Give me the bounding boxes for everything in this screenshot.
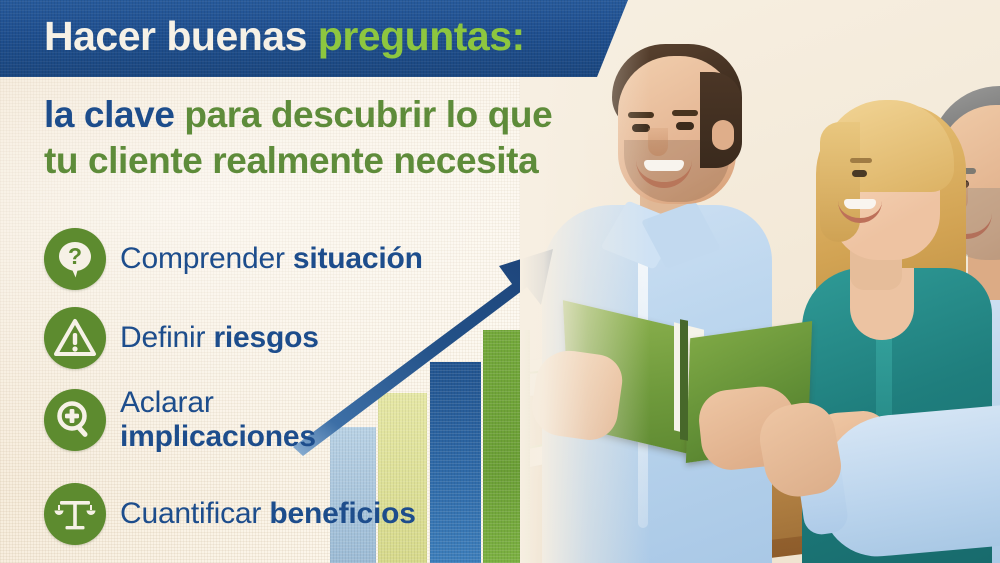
subheadline-emphasis: la clave — [44, 94, 184, 135]
list-item-label: Comprender situación — [120, 242, 423, 276]
warning-triangle-icon — [44, 307, 106, 369]
svg-text:?: ? — [68, 243, 82, 269]
green-book-spine — [680, 319, 688, 440]
magnifier-plus-glyph — [53, 398, 97, 442]
banner-headline: Hacer buenas preguntas: — [44, 11, 525, 62]
list-item-label: Definir riesgos — [120, 321, 319, 355]
subheadline-line1-rest: para descubrir lo que — [184, 94, 552, 135]
list-item-label: Cuantificar beneficios — [120, 497, 416, 531]
list-item-text: Cuantificar — [120, 497, 269, 530]
subheadline: la clave para descubrir lo que tu client… — [44, 92, 552, 184]
header-banner: Hacer buenas preguntas: — [0, 0, 628, 77]
woman-teeth — [844, 199, 876, 209]
banner-headline-part1: Hacer buenas — [44, 13, 318, 59]
list-item[interactable]: ? Comprender situación — [44, 228, 423, 290]
woman-brow — [850, 158, 872, 163]
balance-scale-glyph — [53, 492, 97, 536]
list-item-label: Aclararimplicaciones — [120, 386, 316, 453]
subheadline-line-1: la clave para descubrir lo que — [44, 92, 552, 138]
man-left-brow — [672, 110, 698, 116]
woman-eye — [852, 170, 867, 177]
list-item-text-bold: implicaciones — [120, 420, 316, 454]
photo-left-fade — [520, 0, 650, 563]
woman-hair-front — [820, 122, 860, 242]
man-left-ear — [712, 120, 734, 150]
list-item-text: Definir — [120, 321, 213, 354]
list-item[interactable]: Cuantificar beneficios — [44, 483, 416, 545]
man-left-nose — [648, 128, 668, 156]
list-item-text-bold: beneficios — [269, 497, 415, 530]
list-item-text-bold: riesgos — [213, 321, 318, 354]
people-photo — [520, 0, 1000, 563]
man-left-eye — [676, 122, 694, 130]
list-item-text: Aclarar — [120, 386, 214, 419]
list-item-text-bold: situación — [293, 242, 423, 275]
banner-headline-part2: preguntas: — [318, 13, 525, 59]
magnifier-plus-icon — [44, 389, 106, 451]
list-item[interactable]: Definir riesgos — [44, 307, 319, 369]
question-bubble-glyph: ? — [53, 237, 97, 281]
subheadline-line-2: tu cliente realmente necesita — [44, 138, 552, 184]
balance-scale-icon — [44, 483, 106, 545]
man-left-teeth — [644, 160, 684, 171]
list-item[interactable]: Aclararimplicaciones — [44, 386, 316, 453]
warning-triangle-glyph — [53, 316, 97, 360]
banner-canvas: Hacer buenas preguntas: la clave para de… — [0, 0, 1000, 563]
list-item-text: Comprender — [120, 242, 293, 275]
question-speech-bubble-icon: ? — [44, 228, 106, 290]
